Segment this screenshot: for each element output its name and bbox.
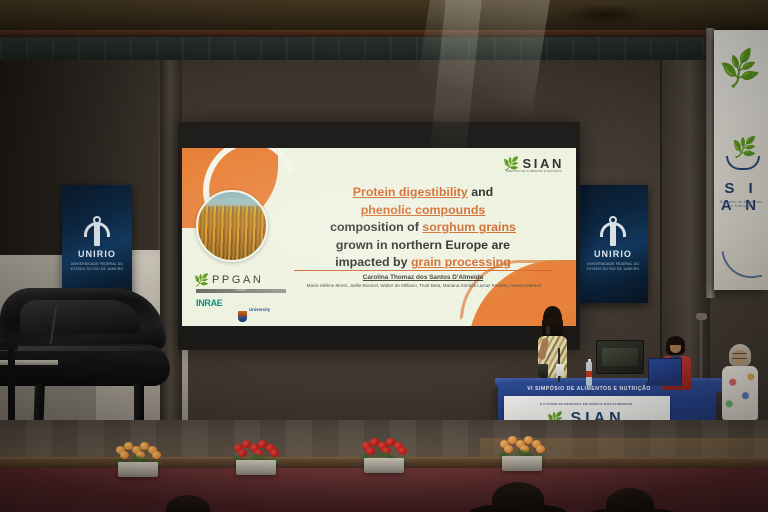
manitoba-logo: University of Manitoba <box>238 298 270 326</box>
planter-box <box>118 462 158 477</box>
slide-sian-logo: 🌿 SIAN SIMPÓSIO DE ALIMENTOS E NUTRIÇÃO <box>503 156 564 171</box>
slide-title-highlight: sorghum grains <box>422 220 516 234</box>
dark-mug <box>538 364 548 378</box>
flower-planter <box>110 438 166 478</box>
slide-sian-logo-subtitle: SIMPÓSIO DE ALIMENTOS E NUTRIÇÃO <box>506 170 562 173</box>
sorghum-field-photo <box>196 190 268 262</box>
bench-leg <box>8 350 15 420</box>
leaf-icon: 🌿 <box>503 157 519 170</box>
piano-body-highlight <box>0 346 166 351</box>
water-bottle <box>586 362 592 386</box>
slide-presenter-name: Carolina Thomaz dos Santos D'Almeida <box>278 274 568 281</box>
microphone-icon <box>546 326 550 335</box>
ppgan-logo: 🌿 PPGAN <box>194 274 263 286</box>
leaf-icon: 🌿 <box>194 274 209 286</box>
slide-title-highlight: grain processing <box>411 255 511 269</box>
ppgan-logo-bar-text: UNIRIO <box>196 289 286 293</box>
slide-title-line-1: Protein digestibility and <box>278 184 568 202</box>
bowl-icon <box>726 156 760 170</box>
presentation-slide: 🌿 SIAN SIMPÓSIO DE ALIMENTOS E NUTRIÇÃO … <box>182 148 576 326</box>
piano-lid-inner <box>20 300 140 334</box>
unirio-banner-right: UNIRIO UNIVERSIDADE FEDERAL DO ESTADO DO… <box>578 185 648 303</box>
audience-head <box>492 482 544 512</box>
conference-stage-photo: UNIRIO UNIVERSIDADE FEDERAL DO ESTADO DO… <box>0 0 768 512</box>
panelist-hair-fringe <box>667 337 685 345</box>
manitoba-logo-line1: University <box>249 307 270 312</box>
equipment-case <box>596 340 644 374</box>
slide-title-text: and <box>468 185 493 199</box>
table-banner-headline: VI SIMPÓSIO DE ALIMENTOS E NUTRIÇÃO <box>500 386 678 392</box>
slide-title-highlight: Protein digestibility <box>353 185 468 199</box>
screen-bottom-edge <box>178 326 580 350</box>
flower-planter <box>494 432 550 472</box>
planter-box <box>364 458 404 473</box>
sian-vertical-banner: 🌿 🌿 S I A N Simpósio de Alimentos e Nutr… <box>714 30 768 290</box>
unirio-logo-icon <box>600 216 626 246</box>
planter-box <box>502 456 542 471</box>
floor-lamp-pole <box>700 318 703 384</box>
laptop-lid <box>648 358 682 384</box>
screen-top-edge <box>178 122 580 148</box>
leaf-icon: 🌿 <box>718 47 764 92</box>
slide-title-line-2: phenolic compounds <box>278 202 568 220</box>
slide-title-text: grown in northern Europe are <box>336 238 510 252</box>
unirio-banner-subtitle: UNIVERSIDADE FEDERAL DO ESTADO DO RIO DE… <box>582 262 644 271</box>
slide-title-highlight: phenolic compounds <box>361 203 486 217</box>
slide-title: Protein digestibility andphenolic compou… <box>278 184 568 272</box>
flower-planter <box>356 434 412 474</box>
laptop <box>646 358 682 388</box>
unirio-banner-name: UNIRIO <box>78 250 116 259</box>
projection-screen: 🌿 SIAN SIMPÓSIO DE ALIMENTOS E NUTRIÇÃO … <box>178 122 580 350</box>
slide-title-line-4: grown in northern Europe are <box>278 237 568 255</box>
shield-icon <box>238 311 247 322</box>
table-banner-subhead: O FUTURO DA PESQUISA EM CIÊNCIA DOS ALIM… <box>506 402 666 406</box>
slide-title-text: impacted by <box>335 255 411 269</box>
slide-title-divider <box>294 270 552 271</box>
inrae-logo: INRAE <box>196 298 223 308</box>
ceiling-stain <box>560 4 650 26</box>
sian-banner-text: S I A N <box>718 180 764 214</box>
ppgan-logo-text: PPGAN <box>212 274 264 286</box>
slide-title-text: composition of <box>330 220 422 234</box>
panelist-blouse <box>722 366 758 420</box>
unirio-banner-left: UNIRIO UNIVERSIDADE FEDERAL DO ESTADO DO… <box>62 185 132 303</box>
slide-sian-logo-text: SIAN <box>523 156 564 171</box>
planter-box <box>236 460 276 475</box>
seated-panelist-right <box>722 344 760 420</box>
glasses-icon <box>732 353 747 359</box>
paper-cup <box>556 364 564 376</box>
flower-planter <box>228 436 284 476</box>
decorative-swirl <box>721 245 762 283</box>
unirio-banner-name: UNIRIO <box>594 250 632 259</box>
ceiling <box>0 0 768 32</box>
sian-banner-subtitle: Simpósio de Alimentos e Nutrição <box>718 200 764 208</box>
slide-title-line-3: composition of sorghum grains <box>278 219 568 237</box>
bench-seat <box>0 342 18 350</box>
unirio-banner-subtitle: UNIVERSIDADE FEDERAL DO ESTADO DO RIO DE… <box>66 262 128 271</box>
unirio-logo-icon <box>84 216 110 246</box>
slide-coauthors: Marie-Hélène Morel, Joëlle Bonicel, Walt… <box>290 283 558 290</box>
